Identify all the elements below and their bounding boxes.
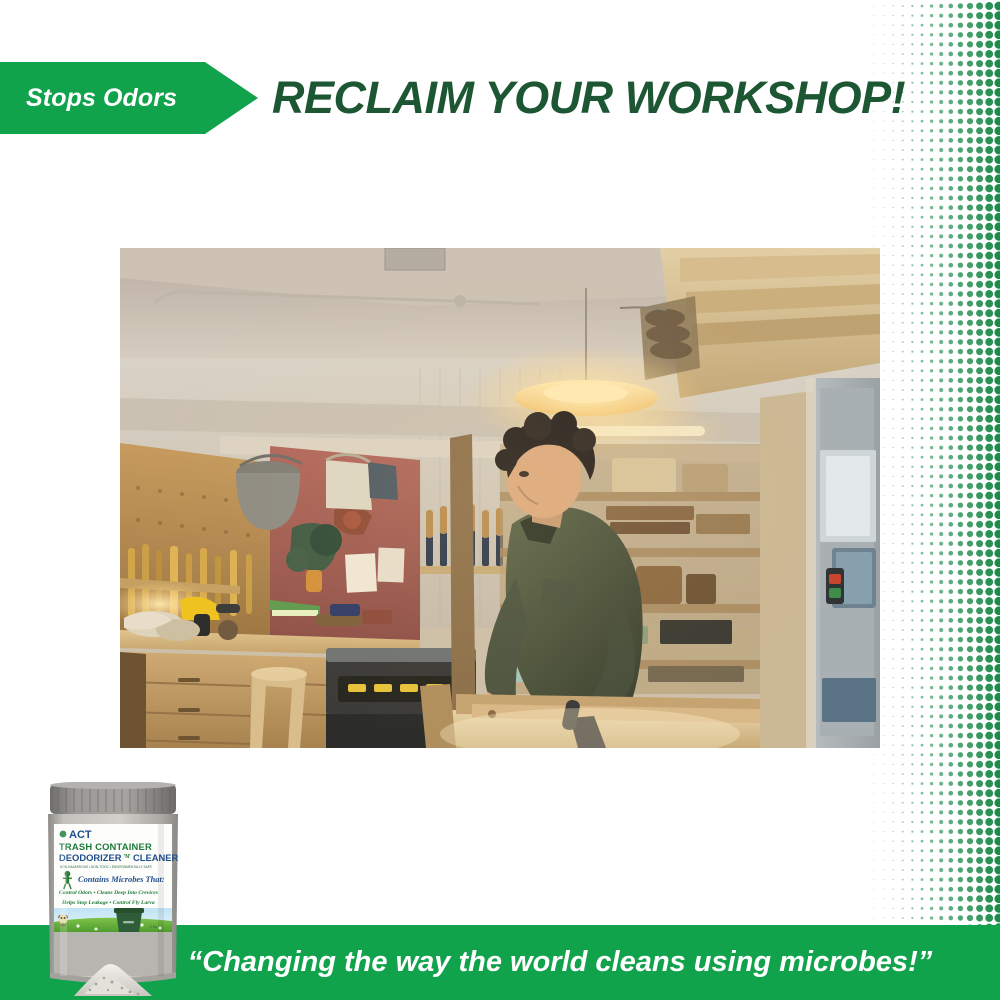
svg-text:DEODORIZER: DEODORIZER xyxy=(59,852,122,863)
page-headline: RECLAIM YOUR WORKSHOP! xyxy=(272,66,932,130)
workshop-photo xyxy=(120,248,880,748)
halftone-dot-gradient xyxy=(870,0,1000,1000)
stops-odors-tag: Stops Odors xyxy=(0,62,258,134)
stops-odors-label: Stops Odors xyxy=(0,84,177,113)
svg-text:'N': 'N' xyxy=(124,854,131,860)
svg-text:TRASH CONTAINER: TRASH CONTAINER xyxy=(59,841,152,852)
marketing-banner-page: Stops Odors RECLAIM YOUR WORKSHOP! xyxy=(0,0,1000,1000)
svg-text:2 lbs.: 2 lbs. xyxy=(150,925,158,929)
svg-text:Control Odors • Cleans Deep: Control Odors • Cleans Deep Into Crevice… xyxy=(59,890,158,896)
svg-text:ACT: ACT xyxy=(69,829,92,841)
svg-text:NON-HAZARDOUS • NON-TOXIC • EN: NON-HAZARDOUS • NON-TOXIC • ENVIRONMENTA… xyxy=(60,865,152,869)
svg-text:Helps Stop Leakage • Control: Helps Stop Leakage • Control Fly Larva xyxy=(61,900,155,906)
svg-text:Contains Microbes That:: Contains Microbes That: xyxy=(78,875,165,884)
product-jar: ACT TRASH CONTAINER DEODORIZER 'N' CLEAN… xyxy=(38,782,188,1000)
svg-text:CLEANER: CLEANER xyxy=(133,852,179,863)
